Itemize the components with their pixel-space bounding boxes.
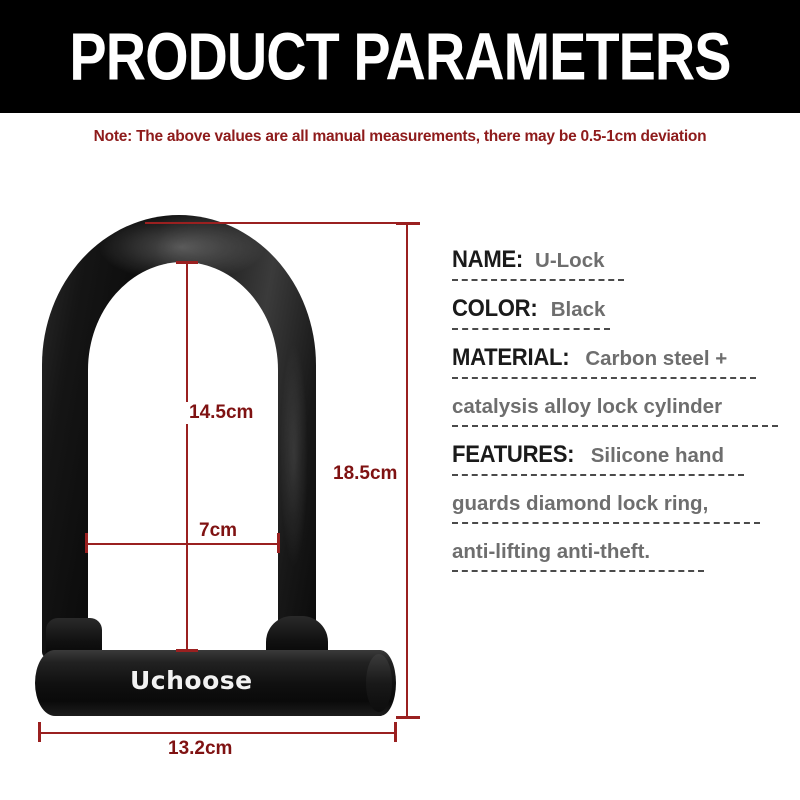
spec-underline-color: [452, 328, 610, 330]
dim-label-total-height: 18.5cm: [330, 463, 400, 485]
dim-label-shackle-width: 7cm: [196, 520, 240, 542]
dim-7-tick-right: [277, 533, 280, 553]
spec-row-features: FEATURES: Silicone hand: [452, 440, 792, 476]
dim-18-5-vertical: [406, 222, 408, 717]
spec-value-features: Silicone hand: [591, 444, 724, 467]
spec-text-features-cont-1: guards diamond lock ring,: [452, 489, 792, 519]
brand-logo: Uchoose: [130, 666, 253, 695]
lock-body-end-cap: [366, 654, 392, 712]
specification-list: NAME: U-Lock COLOR: Black MATERIAL: Carb…: [452, 245, 792, 585]
spec-text-name: NAME: U-Lock: [452, 245, 792, 276]
dim-14-5-tick-bottom: [176, 649, 198, 652]
measurement-note: Note: The above values are all manual me…: [0, 128, 800, 146]
spec-row-material: MATERIAL: Carbon steel +: [452, 343, 792, 379]
dim-13-2-tick-left: [38, 722, 41, 742]
dim-18-5-top-extension: [145, 222, 407, 224]
dim-label-shackle-height: 14.5cm: [186, 402, 256, 424]
spec-label-features: FEATURES:: [452, 440, 574, 470]
spec-text-material-cont: catalysis alloy lock cylinder: [452, 392, 792, 422]
spec-underline-features: [452, 474, 744, 476]
spec-label-material: MATERIAL:: [452, 343, 569, 373]
product-image: Uchoose 18.5cm 14.5cm 7cm 13.2cm: [0, 180, 440, 780]
dim-18-5-tick-top: [396, 222, 420, 225]
shackle-inner-cutout: [88, 262, 278, 662]
dim-18-5-tick-bottom: [396, 716, 420, 719]
dim-13-2-horizontal: [38, 732, 396, 734]
spec-value-name: U-Lock: [535, 249, 604, 272]
spec-row-features-cont-2: anti-lifting anti-theft.: [452, 537, 792, 572]
spec-label-name: NAME:: [452, 245, 523, 275]
lock-body: Uchoose: [35, 650, 396, 716]
spec-text-color: COLOR: Black: [452, 294, 792, 325]
dim-13-2-tick-right: [394, 722, 397, 742]
spec-value-features-cont-2: anti-lifting anti-theft.: [452, 540, 650, 563]
header-banner: PRODUCT PARAMETERS: [0, 0, 800, 113]
spec-row-color: COLOR: Black: [452, 294, 792, 330]
spec-underline-material-cont: [452, 425, 778, 427]
spec-text-material: MATERIAL: Carbon steel +: [452, 343, 792, 374]
dim-7-horizontal: [85, 543, 278, 545]
spec-value-features-cont-1: guards diamond lock ring,: [452, 492, 708, 515]
spec-value-color: Black: [551, 298, 606, 321]
spec-text-features-cont-2: anti-lifting anti-theft.: [452, 537, 792, 567]
dim-label-body-width: 13.2cm: [165, 738, 235, 760]
product-parameters-infographic: PRODUCT PARAMETERS Note: The above value…: [0, 0, 800, 800]
spec-text-features: FEATURES: Silicone hand: [452, 440, 792, 471]
spec-row-material-cont: catalysis alloy lock cylinder: [452, 392, 792, 427]
spec-label-color: COLOR:: [452, 294, 537, 324]
spec-underline-features-cont-1: [452, 522, 760, 524]
dim-7-tick-left: [85, 533, 88, 553]
spec-row-name: NAME: U-Lock: [452, 245, 792, 281]
spec-value-material-cont: catalysis alloy lock cylinder: [452, 395, 722, 418]
spec-underline-material: [452, 377, 756, 379]
spec-underline-features-cont-2: [452, 570, 704, 572]
dim-14-5-tick-top: [176, 261, 198, 264]
page-title: PRODUCT PARAMETERS: [28, 0, 772, 120]
spec-row-features-cont-1: guards diamond lock ring,: [452, 489, 792, 524]
spec-value-material: Carbon steel +: [585, 347, 727, 370]
spec-underline-name: [452, 279, 624, 281]
dim-14-5-vertical: [186, 262, 188, 652]
